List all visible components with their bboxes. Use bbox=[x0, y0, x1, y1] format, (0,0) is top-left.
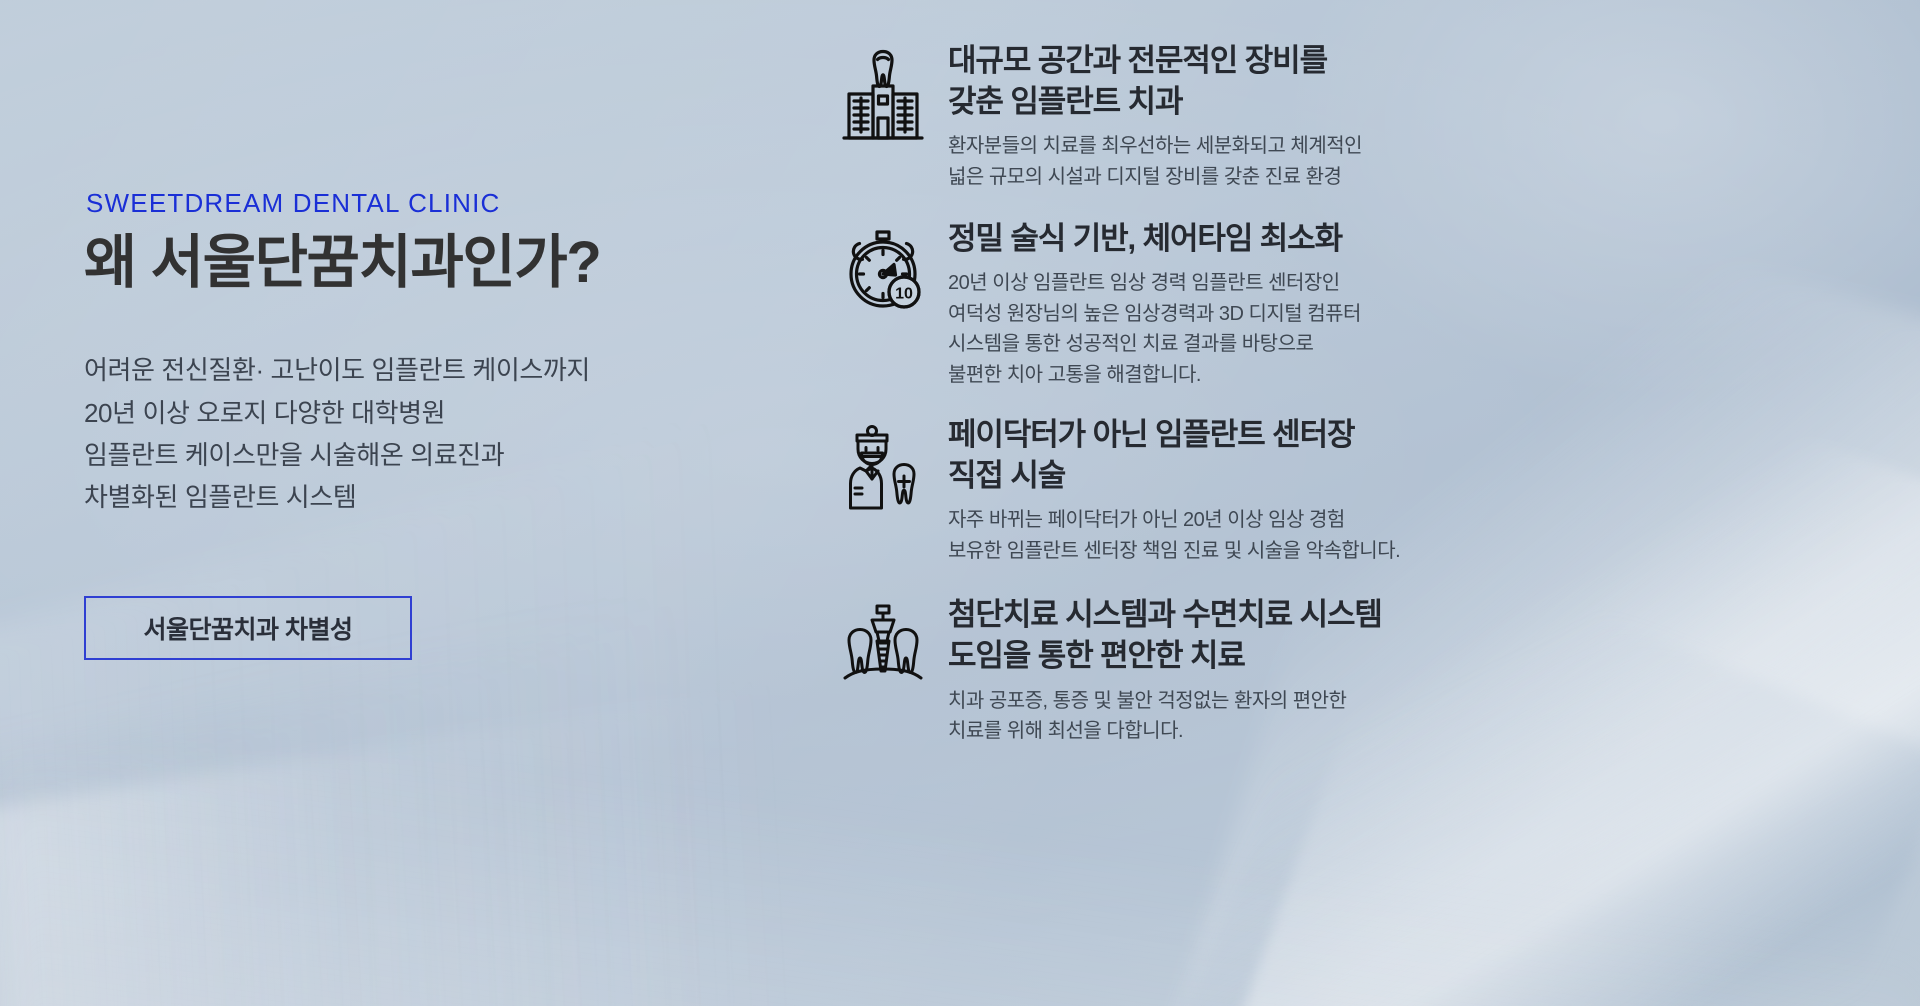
feature-title-line: 대규모 공간과 전문적인 장비를 bbox=[948, 40, 1874, 81]
feature-desc-line: 보유한 임플란트 센터장 책임 진료 및 시술을 악속합니다. bbox=[948, 536, 1874, 566]
feature-item: 페이닥터가 아닌 임플란트 센터장 직접 시술 자주 바뀌는 페이닥터가 아닌 … bbox=[824, 414, 1874, 566]
stopwatch-badge-number: 10 bbox=[895, 286, 913, 303]
stopwatch-icon: 10 bbox=[824, 218, 942, 314]
feature-description: 자주 바뀌는 페이닥터가 아닌 20년 이상 임상 경험 보유한 임플란트 센터… bbox=[948, 505, 1874, 566]
intro-paragraph: 어려운 전신질환· 고난이도 임플란트 케이스까지 20년 이상 오로지 다양한… bbox=[84, 349, 784, 517]
feature-item: 첨단치료 시스템과 수면치료 시스템 도임을 통한 편안한 치료 치과 공포증,… bbox=[824, 594, 1874, 746]
feature-desc-line: 시스템을 통한 성공적인 치료 결과를 바탕으로 bbox=[948, 329, 1874, 359]
background-sweep-bottom bbox=[0, 756, 1920, 1006]
feature-desc-line: 자주 바뀌는 페이닥터가 아닌 20년 이상 임상 경험 bbox=[948, 505, 1874, 535]
feature-item: 10 정밀 술식 기반, 체어타임 최소화 20년 이상 임플란트 임상 경력 … bbox=[824, 218, 1874, 390]
feature-title-line: 직접 시술 bbox=[948, 455, 1874, 496]
page-title: 왜 서울단꿈치과인가? bbox=[84, 229, 784, 297]
intro-line: 어려운 전신질환· 고난이도 임플란트 케이스까지 bbox=[84, 349, 784, 391]
feature-desc-line: 치과 공포증, 통증 및 불안 걱정없는 환자의 편안한 bbox=[948, 686, 1874, 716]
dental-hospital-building-icon bbox=[824, 40, 942, 144]
feature-desc-line: 20년 이상 임플란트 임상 경력 임플란트 센터장인 bbox=[948, 268, 1874, 298]
feature-title: 페이닥터가 아닌 임플란트 센터장 직접 시술 bbox=[948, 414, 1874, 496]
feature-body: 페이닥터가 아닌 임플란트 센터장 직접 시술 자주 바뀌는 페이닥터가 아닌 … bbox=[942, 414, 1874, 566]
intro-line: 임플란트 케이스만을 시술해온 의료진과 bbox=[84, 434, 784, 476]
feature-desc-line: 환자분들의 치료를 최우선하는 세분화되고 체계적인 bbox=[948, 131, 1874, 161]
feature-description: 20년 이상 임플란트 임상 경력 임플란트 센터장인 여덕성 원장님의 높은 … bbox=[948, 268, 1874, 390]
dentist-doctor-icon bbox=[824, 414, 942, 514]
feature-desc-line: 불편한 치아 고통을 해결합니다. bbox=[948, 360, 1874, 390]
feature-title: 첨단치료 시스템과 수면치료 시스템 도임을 통한 편안한 치료 bbox=[948, 594, 1874, 676]
intro-line: 20년 이상 오로지 다양한 대학병원 bbox=[84, 392, 784, 434]
feature-desc-line: 넓은 규모의 시설과 디지털 장비를 갖춘 진료 환경 bbox=[948, 162, 1874, 192]
intro-line: 차별화된 임플란트 시스템 bbox=[84, 476, 784, 518]
feature-item: 대규모 공간과 전문적인 장비를 갖춘 임플란트 치과 환자분들의 치료를 최우… bbox=[824, 40, 1874, 192]
feature-body: 첨단치료 시스템과 수면치료 시스템 도임을 통한 편안한 치료 치과 공포증,… bbox=[942, 594, 1874, 746]
feature-body: 대규모 공간과 전문적인 장비를 갖춘 임플란트 치과 환자분들의 치료를 최우… bbox=[942, 40, 1874, 192]
feature-title-line: 첨단치료 시스템과 수면치료 시스템 bbox=[948, 594, 1874, 635]
feature-desc-line: 여덕성 원장님의 높은 임상경력과 3D 디지털 컴퓨터 bbox=[948, 299, 1874, 329]
differentiation-cta-button[interactable]: 서울단꿈치과 차별성 bbox=[84, 596, 412, 660]
feature-description: 치과 공포증, 통증 및 불안 걱정없는 환자의 편안한 치료를 위해 최선을 … bbox=[948, 686, 1874, 747]
feature-title: 대규모 공간과 전문적인 장비를 갖춘 임플란트 치과 bbox=[948, 40, 1874, 122]
feature-title-line: 정밀 술식 기반, 체어타임 최소화 bbox=[948, 218, 1874, 259]
clinic-eyebrow-text: SWEETDREAM DENTAL CLINIC bbox=[86, 188, 784, 219]
features-column: 대규모 공간과 전문적인 장비를 갖춘 임플란트 치과 환자분들의 치료를 최우… bbox=[824, 40, 1874, 746]
feature-title: 정밀 술식 기반, 체어타임 최소화 bbox=[948, 218, 1874, 259]
intro-column: SWEETDREAM DENTAL CLINIC 왜 서울단꿈치과인가? 어려운… bbox=[84, 188, 784, 660]
feature-description: 환자분들의 치료를 최우선하는 세분화되고 체계적인 넓은 규모의 시설과 디지… bbox=[948, 131, 1874, 192]
feature-title-line: 갖춘 임플란트 치과 bbox=[948, 81, 1874, 122]
promo-banner: SWEETDREAM DENTAL CLINIC 왜 서울단꿈치과인가? 어려운… bbox=[0, 0, 1920, 1006]
dental-implant-icon bbox=[824, 594, 942, 694]
feature-title-line: 페이닥터가 아닌 임플란트 센터장 bbox=[948, 414, 1874, 455]
feature-title-line: 도임을 통한 편안한 치료 bbox=[948, 635, 1874, 676]
feature-desc-line: 치료를 위해 최선을 다합니다. bbox=[948, 716, 1874, 746]
feature-body: 정밀 술식 기반, 체어타임 최소화 20년 이상 임플란트 임상 경력 임플란… bbox=[942, 218, 1874, 390]
